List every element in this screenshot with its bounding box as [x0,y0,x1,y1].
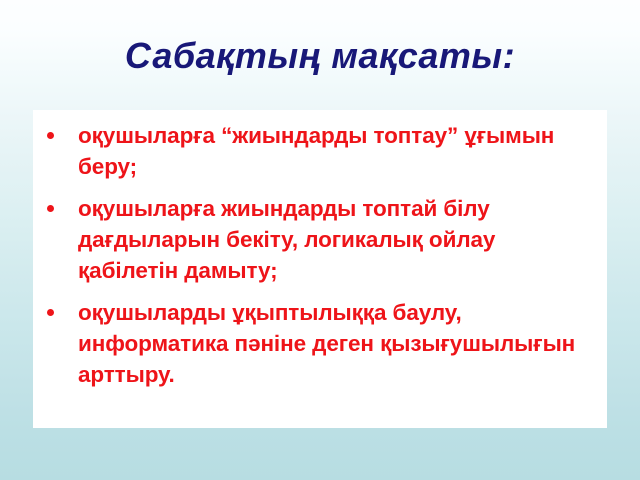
content-panel: оқушыларға “жиындарды топтау” ұғымын бер… [33,110,607,428]
list-item-text: оқушыларға “жиындарды топтау” ұғымын бер… [78,120,587,182]
list-item: оқушыларға жиындарды топтай білу дағдыла… [33,193,607,286]
list-item-text: оқушыларға жиындарды топтай білу дағдыла… [78,193,587,286]
list-item: оқушыларды ұқыптылыққа баулу, информатик… [33,297,607,390]
objectives-list: оқушыларға “жиындарды топтау” ұғымын бер… [33,120,607,390]
round-bullet-icon [47,309,54,316]
page-title: Сабақтың мақсаты: [0,34,640,78]
round-bullet-icon [47,205,54,212]
presentation-slide: Сабақтың мақсаты: оқушыларға “жиындарды … [0,0,640,480]
round-bullet-icon [47,132,54,139]
list-item: оқушыларға “жиындарды топтау” ұғымын бер… [33,120,607,182]
list-item-text: оқушыларды ұқыптылыққа баулу, информатик… [78,297,587,390]
